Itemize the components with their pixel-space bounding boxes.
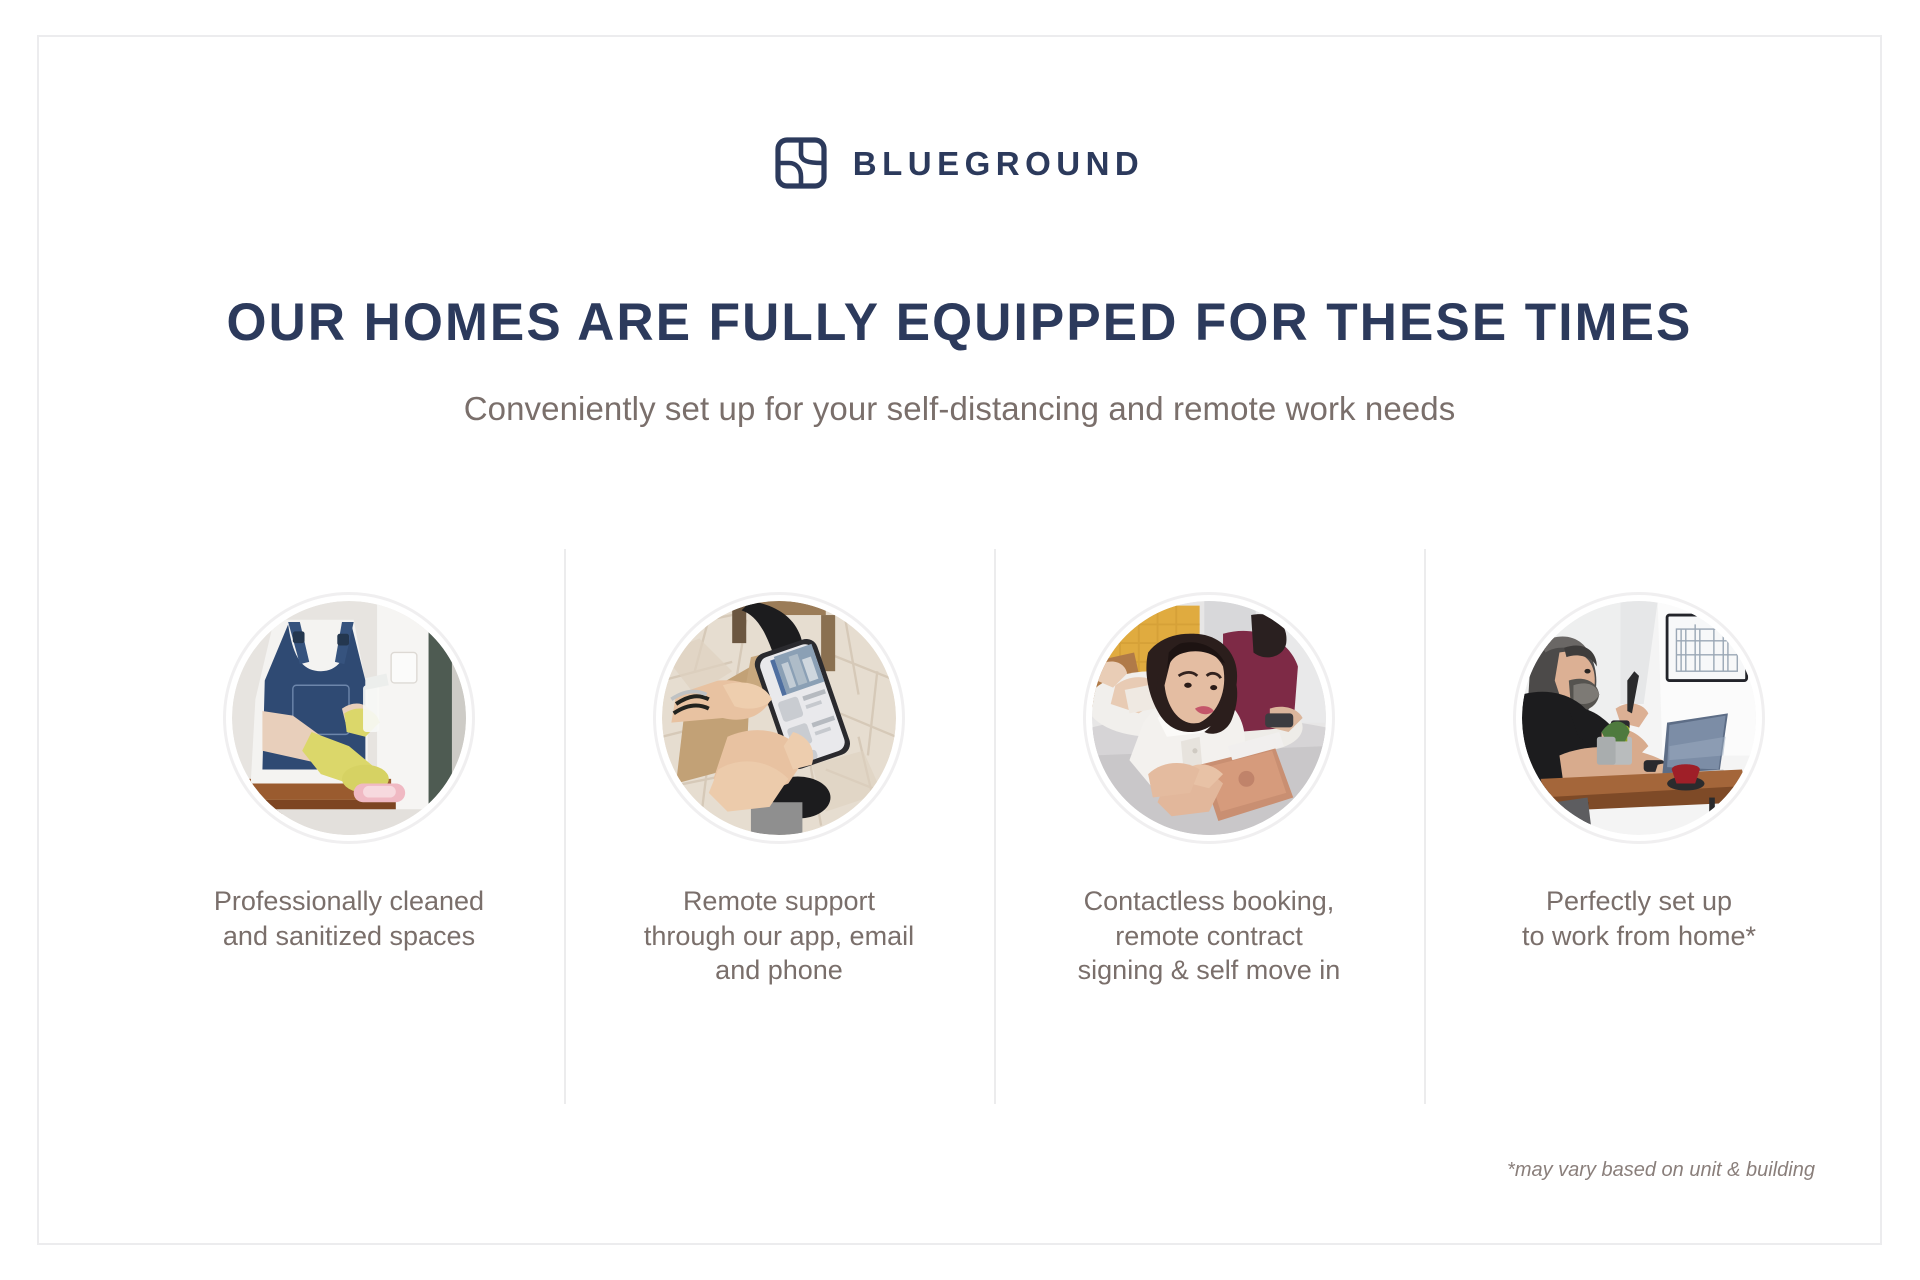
smartphone-photo [662, 601, 896, 835]
poster-frame: BLUEGROUND OUR HOMES ARE FULLY EQUIPPED … [37, 35, 1882, 1245]
feature-caption: Professionally cleaned and sanitized spa… [214, 884, 484, 953]
home-office-photo [1522, 601, 1756, 835]
feature-photo-ring [223, 592, 475, 844]
page-title: OUR HOMES ARE FULLY EQUIPPED FOR THESE T… [67, 295, 1853, 351]
cleaning-photo [232, 601, 466, 835]
brand-logo: BLUEGROUND [39, 137, 1880, 189]
feature-column-contactless-booking: Contactless booking, remote contract sig… [994, 549, 1424, 1104]
feature-photo-ring [1513, 592, 1765, 844]
blueground-square-logo-icon [775, 137, 827, 189]
brand-wordmark: BLUEGROUND [853, 147, 1145, 180]
feature-photo-ring [653, 592, 905, 844]
feature-column-professionally-cleaned: Professionally cleaned and sanitized spa… [134, 549, 564, 1104]
feature-caption: Remote support through our app, email an… [644, 884, 914, 988]
feature-column-remote-support: Remote support through our app, email an… [564, 549, 994, 1104]
feature-caption: Contactless booking, remote contract sig… [1078, 884, 1341, 988]
footnote: *may vary based on unit & building [1507, 1159, 1815, 1182]
feature-photo-ring [1083, 592, 1335, 844]
tablet-bed-photo [1092, 601, 1326, 835]
feature-columns: Professionally cleaned and sanitized spa… [134, 549, 1854, 1104]
feature-column-work-from-home: Perfectly set up to work from home* [1424, 549, 1854, 1104]
feature-caption: Perfectly set up to work from home* [1522, 884, 1756, 953]
page-subtitle: Conveniently set up for your self-distan… [39, 389, 1880, 429]
